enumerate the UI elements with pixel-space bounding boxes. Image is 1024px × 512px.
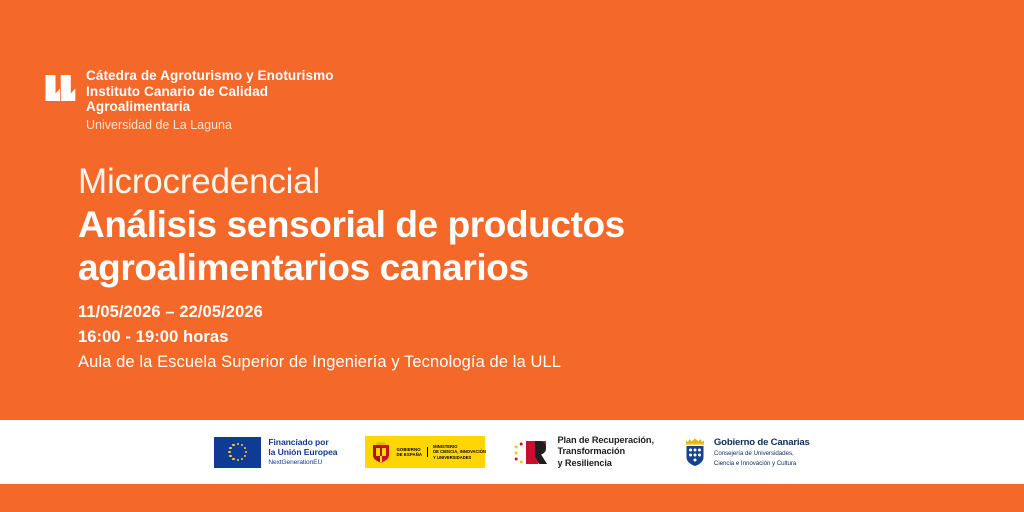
ministerio-line-3: Y UNIVERSIDADES bbox=[433, 455, 486, 460]
prtr-r-mark-icon bbox=[513, 436, 551, 468]
poster-canvas: Cátedra de Agroturismo y Enoturismo Inst… bbox=[0, 0, 1024, 512]
prtr-line-1: Plan de Recuperación, bbox=[557, 435, 653, 446]
ministerio-col2: MINISTERIO DE CIENCIA, INNOVACIÓN Y UNIV… bbox=[433, 444, 486, 460]
brand-line-1: Cátedra de Agroturismo y Enoturismo bbox=[86, 68, 334, 84]
eu-star-icon bbox=[229, 455, 232, 458]
footer-logo-band: Financiado por la Unión Europea NextGene… bbox=[0, 420, 1024, 484]
eu-funding-logo: Financiado por la Unión Europea NextGene… bbox=[214, 435, 337, 469]
event-details: 11/05/2026 – 22/05/2026 16:00 - 19:00 ho… bbox=[78, 300, 561, 375]
event-hours: 16:00 - 19:00 horas bbox=[78, 325, 561, 350]
eu-star-icon bbox=[229, 447, 232, 450]
gobierno-espana-col1: GOBIERNO DE ESPAÑA bbox=[396, 447, 428, 458]
eu-funding-text: Financiado por la Unión Europea NextGene… bbox=[268, 437, 337, 468]
gobierno-espana-logo: GOBIERNO DE ESPAÑA MINISTERIO DE CIENCIA… bbox=[365, 435, 485, 469]
gobierno-canarias-text: Gobierno de Canarias Consejería de Unive… bbox=[714, 437, 810, 467]
spain-coat-of-arms-icon bbox=[370, 441, 392, 464]
plan-recuperacion-logo: Plan de Recuperación, Transformación y R… bbox=[513, 435, 653, 469]
ull-catedra-mark-icon bbox=[44, 72, 76, 104]
eu-flag-icon bbox=[214, 437, 261, 468]
gobierno-espana-plate: GOBIERNO DE ESPAÑA MINISTERIO DE CIENCIA… bbox=[365, 436, 485, 468]
prtr-text-block: Plan de Recuperación, Transformación y R… bbox=[557, 435, 653, 469]
brand-lockup: Cátedra de Agroturismo y Enoturismo Inst… bbox=[44, 68, 334, 133]
gobierno-espana-line-2: DE ESPAÑA bbox=[396, 452, 422, 457]
gobierno-canarias-line-1: Gobierno de Canarias bbox=[714, 437, 810, 448]
page-title-line-2: agroalimentarios canarios bbox=[78, 247, 625, 288]
eu-star-icon bbox=[232, 444, 235, 447]
brand-line-3: Agroalimentaria bbox=[86, 99, 334, 115]
eu-star-icon bbox=[237, 443, 240, 446]
prtr-line-3: y Resiliencia bbox=[557, 458, 653, 469]
page-title-line-1: Análisis sensorial de productos bbox=[78, 204, 625, 245]
title-block: Microcredencial Análisis sensorial de pr… bbox=[78, 162, 625, 288]
eu-star-icon bbox=[244, 455, 247, 458]
eu-star-icon bbox=[241, 458, 244, 461]
title-kicker: Microcredencial bbox=[78, 162, 625, 202]
eu-line-1: Financiado por bbox=[268, 437, 337, 447]
event-dates: 11/05/2026 – 22/05/2026 bbox=[78, 300, 561, 325]
gobierno-canarias-line-3: Ciencia e Innovación y Cultura bbox=[714, 460, 810, 468]
eu-star-icon bbox=[245, 451, 248, 454]
gobierno-canarias-logo: Gobierno de Canarias Consejería de Unive… bbox=[682, 435, 810, 469]
eu-line-2: la Unión Europea bbox=[268, 447, 337, 457]
brand-line-2: Instituto Canario de Calidad bbox=[86, 84, 334, 100]
eu-star-icon bbox=[237, 459, 240, 462]
eu-star-icon bbox=[232, 458, 235, 461]
event-venue: Aula de la Escuela Superior de Ingenierí… bbox=[78, 350, 561, 375]
eu-line-3: NextGenerationEU bbox=[268, 458, 337, 468]
eu-star-icon bbox=[228, 451, 231, 454]
prtr-line-2: Transformación bbox=[557, 446, 653, 457]
brand-subtitle: Universidad de La Laguna bbox=[86, 117, 334, 133]
brand-text-block: Cátedra de Agroturismo y Enoturismo Inst… bbox=[86, 68, 334, 133]
canarias-coat-of-arms-icon bbox=[682, 436, 708, 468]
ministerio-line-2: DE CIENCIA, INNOVACIÓN bbox=[433, 449, 486, 454]
eu-star-icon bbox=[244, 447, 247, 450]
eu-star-icon bbox=[241, 444, 244, 447]
gobierno-canarias-line-2: Consejería de Universidades, bbox=[714, 450, 810, 458]
